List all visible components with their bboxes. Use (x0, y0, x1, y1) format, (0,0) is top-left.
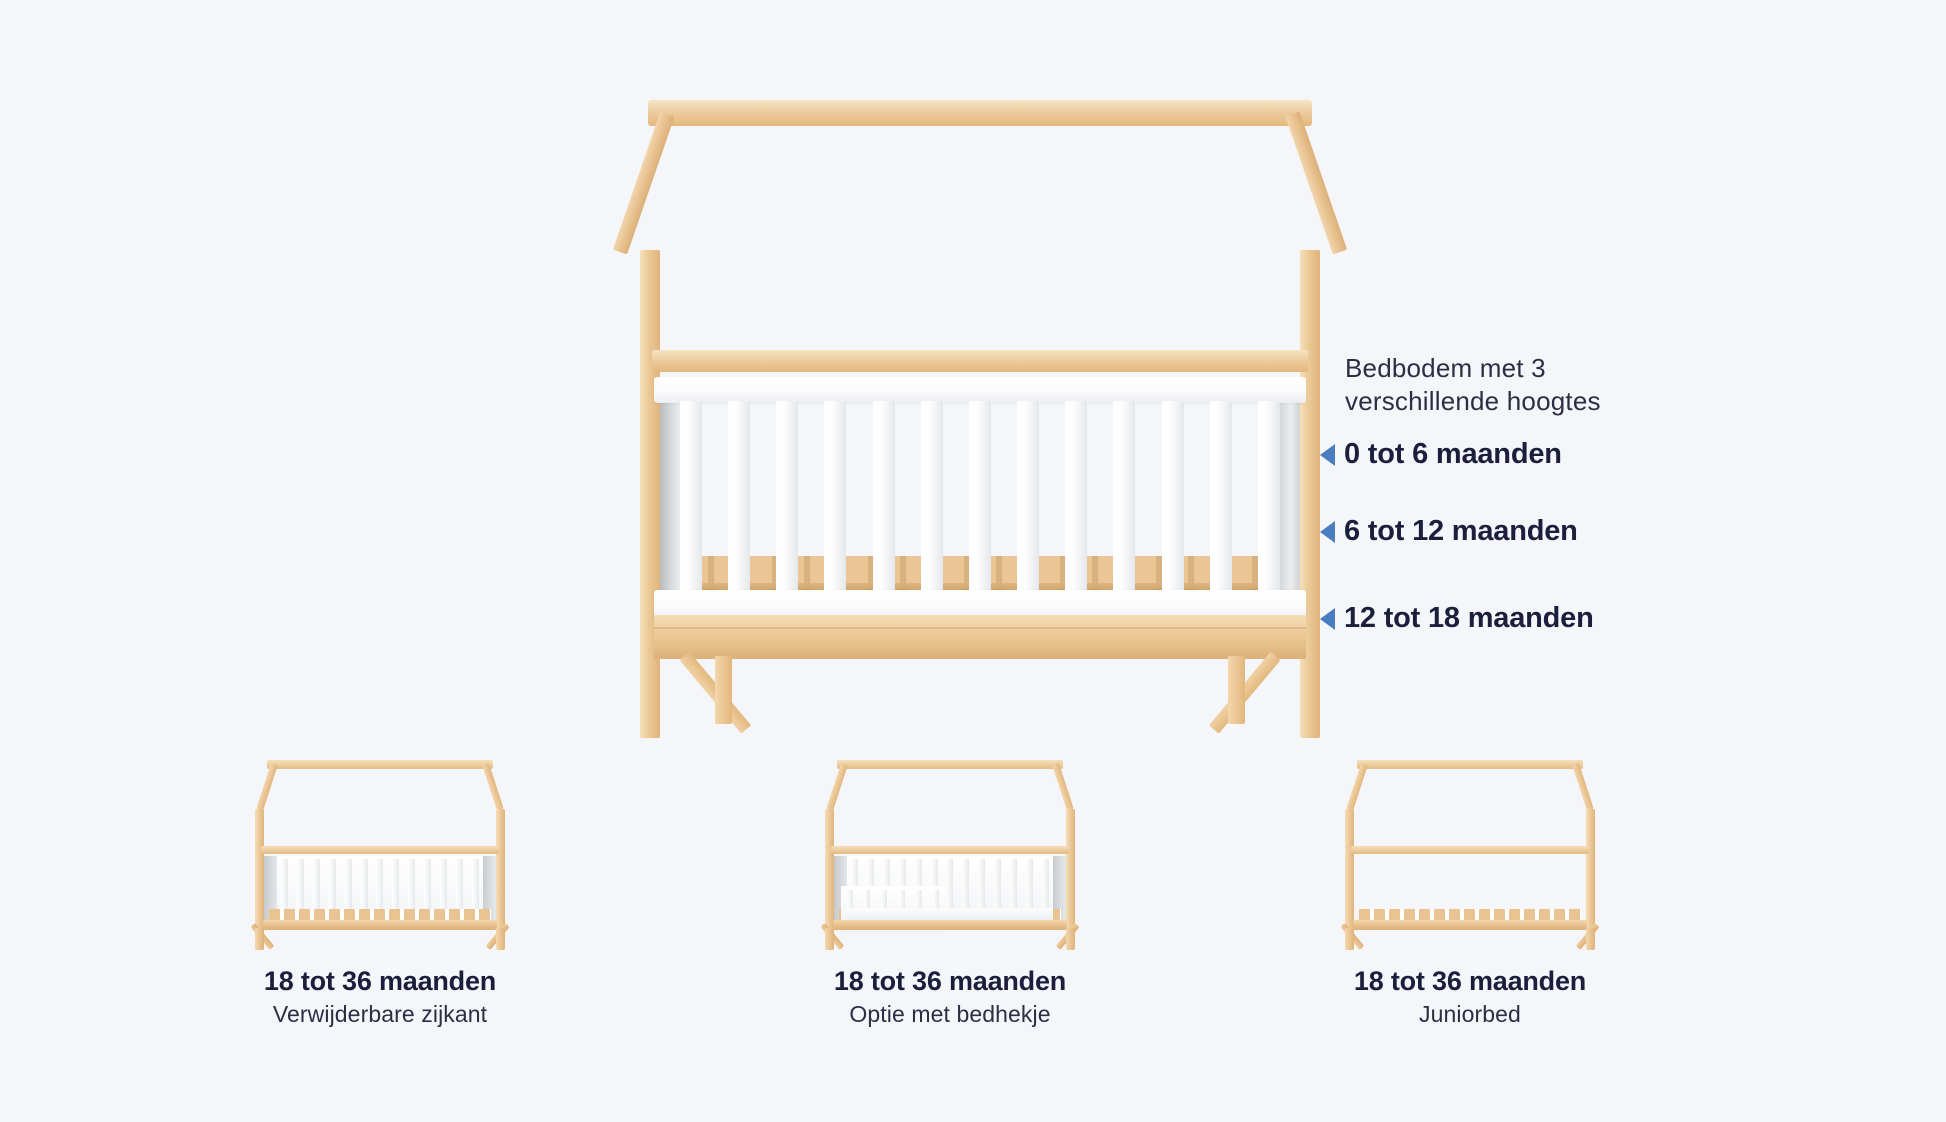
upper-wooden-rail-icon (652, 350, 1308, 372)
level-label-1: 6 tot 12 maanden (1344, 515, 1578, 548)
triangle-left-icon (1320, 608, 1335, 630)
crib-bar (728, 401, 750, 599)
inner-leg-left-icon (715, 656, 732, 724)
variant-illustration-junior-bed (1345, 760, 1595, 950)
crib-bars-group (680, 401, 1280, 599)
leg-foot-left-icon (255, 928, 264, 950)
front-bottom-rail-icon (847, 908, 1053, 920)
base-beam-icon (833, 920, 1067, 930)
variant-subtitle: Juniorbed (1280, 1001, 1660, 1028)
variant-title: 18 tot 36 maanden (760, 966, 1140, 997)
variants-row: 18 tot 36 maanden Verwijderbare zijkant (0, 760, 1946, 1090)
variant-junior-bed: 18 tot 36 maanden Juniorbed (1280, 760, 1660, 1028)
crib-bar (873, 401, 895, 599)
crib-bar (1113, 401, 1135, 599)
variant-title: 18 tot 36 maanden (1280, 966, 1660, 997)
variant-subtitle: Optie met bedhekje (760, 1001, 1140, 1028)
roof-rafter-right-icon (1572, 763, 1593, 811)
roof-rafter-right-icon (482, 763, 503, 811)
base-beam-icon (263, 920, 497, 930)
annotations-heading: Bedbodem met 3 verschillende hoogtes (1345, 352, 1905, 419)
crib-bar (824, 401, 846, 599)
roof-rafter-left-icon (256, 763, 277, 811)
leg-foot-left-icon (825, 928, 834, 950)
crib-bar (1065, 401, 1087, 599)
crib-bar (680, 401, 702, 599)
base-beam-icon (1353, 920, 1587, 930)
upper-wooden-rail-icon (261, 846, 499, 854)
variant-subtitle: Verwijderbare zijkant (190, 1001, 570, 1028)
leg-foot-right-icon (1586, 928, 1595, 950)
triangle-left-icon (1320, 444, 1335, 466)
roof-rafter-right-icon (1285, 112, 1347, 255)
main-crib-illustration (640, 100, 1320, 740)
level-marker-0: 0 tot 6 maanden (1320, 438, 1562, 471)
base-beam-seam-icon (654, 627, 1306, 629)
crib-bar (1017, 401, 1039, 599)
upper-wooden-rail-icon (1351, 846, 1589, 854)
annotations-panel: Bedbodem met 3 verschillende hoogtes 0 t… (1345, 352, 1905, 419)
roof-rafter-left-icon (613, 112, 675, 255)
variant-with-bed-guard: 18 tot 36 maanden Optie met bedhekje (760, 760, 1140, 1028)
level-marker-2: 12 tot 18 maanden (1320, 602, 1594, 635)
roof-top-beam-icon (267, 760, 493, 769)
crib-bar (921, 401, 943, 599)
crib-bar (1210, 401, 1232, 599)
level-label-0: 0 tot 6 maanden (1344, 438, 1562, 471)
variant-title: 18 tot 36 maanden (190, 966, 570, 997)
base-beam-icon (654, 615, 1306, 659)
level-marker-1: 6 tot 12 maanden (1320, 515, 1578, 548)
crib-bar (1258, 401, 1280, 599)
leg-foot-left-icon (1345, 928, 1354, 950)
leg-foot-right-icon (1066, 928, 1075, 950)
roof-top-beam-icon (648, 100, 1312, 126)
crib-bar (776, 401, 798, 599)
triangle-left-icon (1320, 521, 1335, 543)
roof-top-beam-icon (837, 760, 1063, 769)
crib-bar (969, 401, 991, 599)
level-label-2: 12 tot 18 maanden (1344, 602, 1594, 635)
crib-white-body (654, 377, 1306, 620)
leg-foot-right-icon (496, 928, 505, 950)
roof-rafter-left-icon (826, 763, 847, 811)
variant-removable-side: 18 tot 36 maanden Verwijderbare zijkant (190, 760, 570, 1028)
crib-top-rail-icon (654, 377, 1306, 403)
roof-rafter-right-icon (1052, 763, 1073, 811)
infographic-canvas: Bedbodem met 3 verschillende hoogtes 0 t… (0, 0, 1946, 1122)
variant-illustration-with-bed-guard (825, 760, 1075, 950)
variant-illustration-removable-side (255, 760, 505, 950)
roof-rafter-left-icon (1346, 763, 1367, 811)
upper-wooden-rail-icon (831, 846, 1069, 854)
crib-bar (1162, 401, 1184, 599)
inner-leg-right-icon (1228, 656, 1245, 724)
roof-top-beam-icon (1357, 760, 1583, 769)
